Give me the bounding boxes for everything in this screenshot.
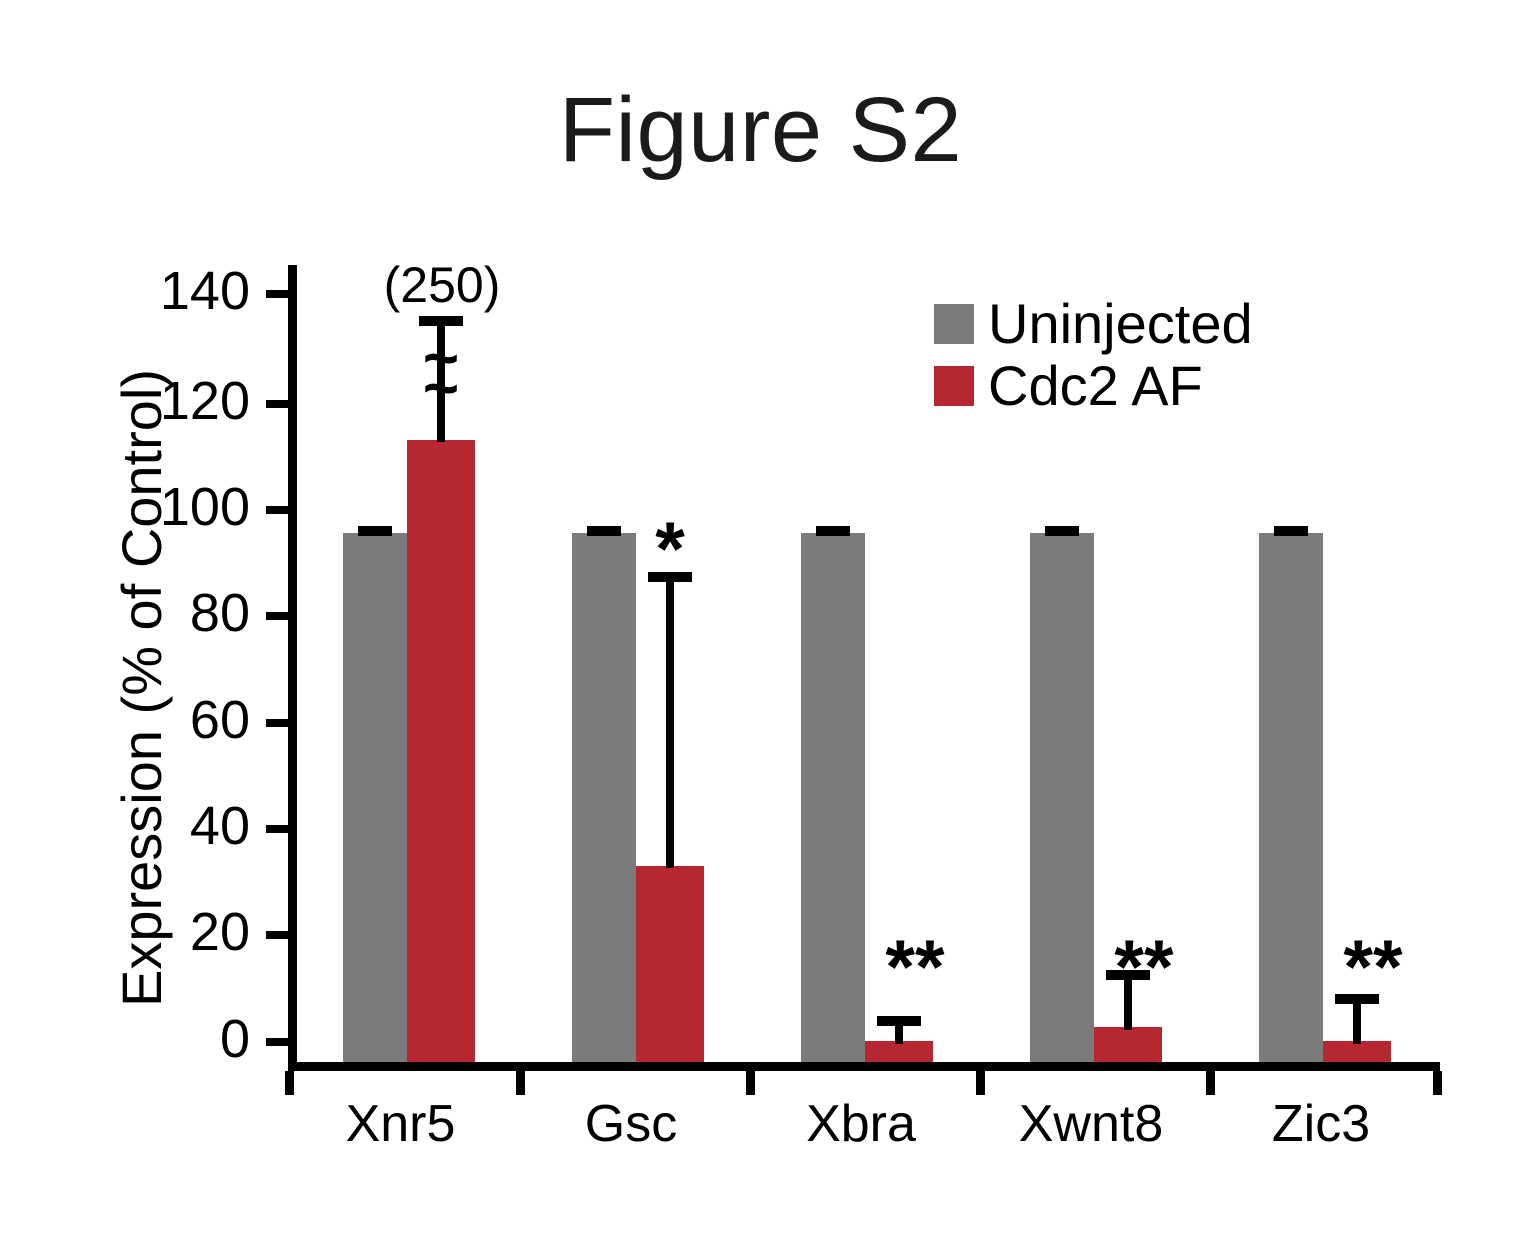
errorbar-cap-xbra-uninjected [816,526,850,536]
bar-xwnt8-cdc2af [1094,1027,1162,1062]
legend-item-cdc2af: Cdc2 AF [934,358,1253,414]
y-tick-label-120: 120 [130,374,250,428]
legend-item-uninjected: Uninjected [934,296,1253,352]
y-tick-label-40: 40 [130,799,250,853]
bar-xnr5-uninjected [343,533,407,1062]
chart-legend: Uninjected Cdc2 AF [934,296,1253,420]
x-axis-label-gsc: Gsc [516,1098,746,1150]
x-tick-2 [746,1071,755,1095]
x-axis-label-xnr5: Xnr5 [285,1098,516,1150]
y-tick-label-20: 20 [130,905,250,959]
errorbar-cap-xwnt8-uninjected [1045,526,1079,536]
y-tick-0 [266,1038,289,1046]
y-tick-40 [266,825,289,833]
x-axis-label-xwnt8: Xwnt8 [976,1098,1206,1150]
x-tick-1 [516,1071,525,1095]
y-tick-label-140: 140 [130,264,250,318]
legend-label-uninjected: Uninjected [988,296,1253,352]
y-tick-120 [266,400,289,408]
significance-marker-xwnt8: ** [1084,930,1204,1006]
errorbar-cap-zic3-uninjected [1274,526,1308,536]
value-annotation-xnr5: (250) [356,260,528,310]
bar-gsc-uninjected [572,533,636,1062]
x-tick-4 [1206,1071,1215,1095]
y-tick-140 [266,290,289,298]
axis-break-mark-lower: ~ [406,358,476,420]
bar-zic3-cdc2af [1323,1041,1391,1062]
legend-swatch-cdc2af [934,366,974,406]
x-axis-label-zic3: Zic3 [1206,1098,1436,1150]
significance-marker-xbra: ** [855,930,975,1006]
bar-chart: Expression (% of Control) 140 120 100 80… [0,0,1521,1242]
y-tick-label-80: 80 [130,586,250,640]
y-tick-label-100: 100 [130,480,250,534]
x-axis-label-xbra: Xbra [746,1098,976,1150]
errorbar-stem-gsc-cdc2af [666,574,674,868]
errorbar-cap-xnr5-uninjected [358,526,392,536]
y-tick-80 [266,612,289,620]
x-tick-3 [976,1071,985,1095]
y-tick-100 [266,506,289,514]
legend-swatch-uninjected [934,304,974,344]
x-axis-line [288,1062,1440,1071]
errorbar-cap-gsc-uninjected [587,526,621,536]
x-tick-0 [285,1071,294,1095]
significance-marker-gsc: * [630,512,710,588]
y-axis-line [288,265,297,1071]
significance-marker-zic3: ** [1313,930,1433,1006]
y-tick-60 [266,719,289,727]
bar-xbra-cdc2af [865,1041,933,1062]
legend-label-cdc2af: Cdc2 AF [988,358,1203,414]
y-tick-20 [266,931,289,939]
errorbar-cap-xbra-cdc2af [877,1016,921,1026]
x-tick-5 [1433,1071,1442,1095]
y-tick-label-60: 60 [130,693,250,747]
bar-gsc-cdc2af [636,866,704,1062]
y-tick-label-0: 0 [130,1012,250,1066]
bar-xnr5-cdc2af [407,440,475,1062]
